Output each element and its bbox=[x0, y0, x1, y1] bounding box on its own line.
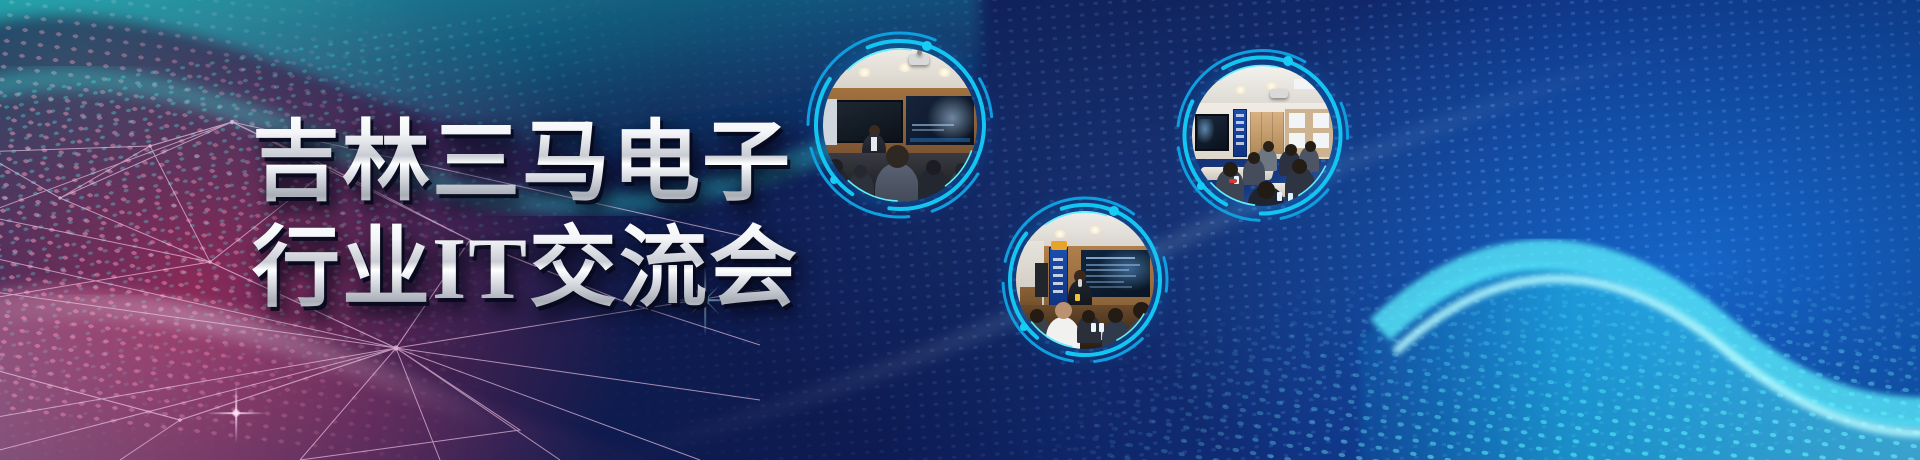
headline-line-2: 行业IT交流会 bbox=[252, 218, 872, 322]
medallion-ring-2 bbox=[1175, 48, 1350, 223]
headline-block: 吉林三马电子 行业IT交流会 bbox=[252, 112, 872, 322]
photo-speaker-presentation[interactable] bbox=[1000, 195, 1170, 365]
photo-conference-room[interactable] bbox=[1175, 48, 1350, 223]
medallion-ring-3 bbox=[1000, 195, 1170, 365]
headline-line-1: 吉林三马电子 bbox=[252, 112, 872, 216]
promo-banner: 吉林三马电子 行业IT交流会 bbox=[0, 0, 1920, 460]
